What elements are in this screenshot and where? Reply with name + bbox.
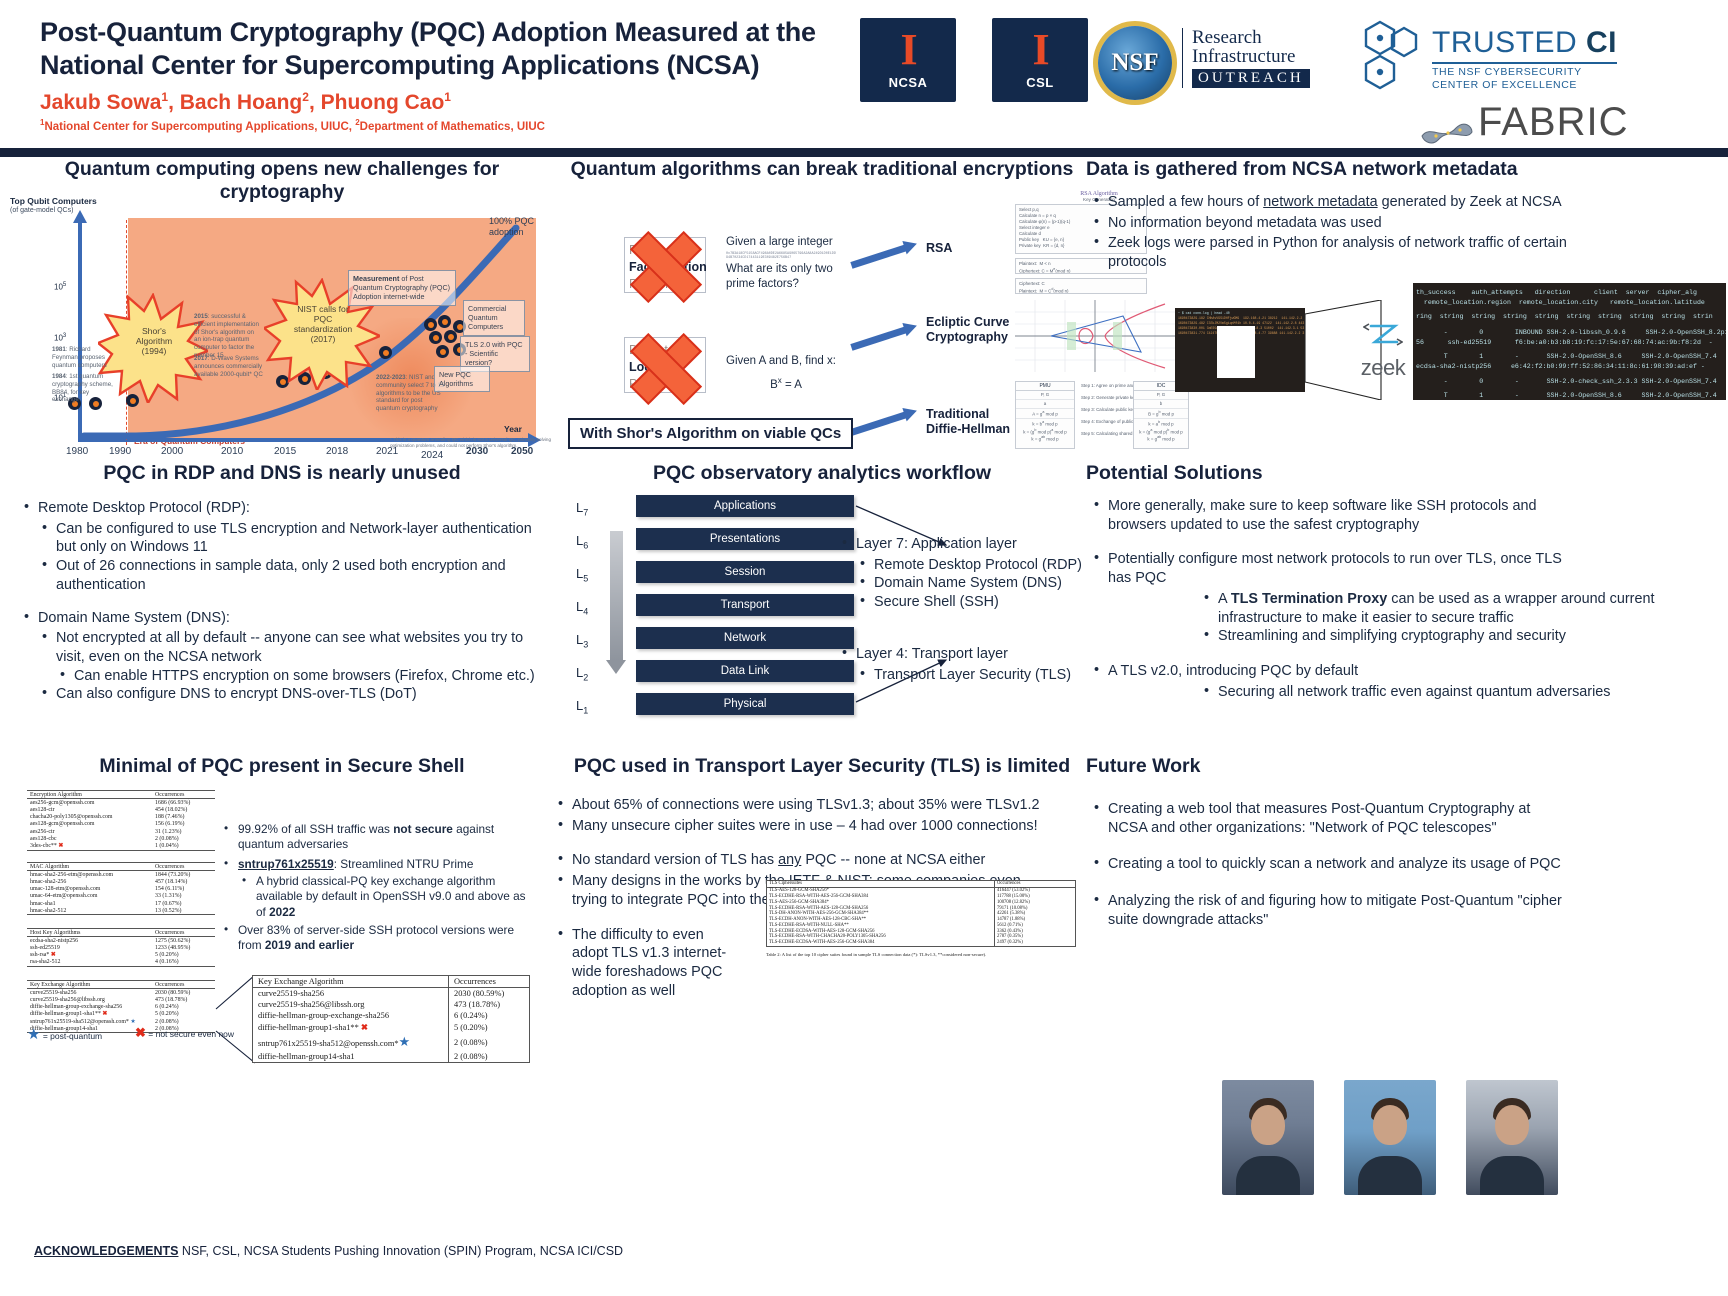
rdp-sublist: Can be configured to use TLS encryption … [40, 520, 542, 595]
tls-bullet-5: The difficulty to even adopt TLS v1.3 in… [556, 926, 741, 1001]
cell-occurrences: 154 (6.11%) [152, 886, 215, 893]
layer4-list: Layer 4: Transport layer Transport Layer… [840, 645, 1090, 684]
key-exchange-algorithm-table-enlarged: Key Exchange Algorithm Occurrences curve… [252, 975, 530, 1063]
dns-sub-1a: Can enable HTTPS encryption on some brow… [58, 667, 542, 686]
table-row: hmac-sha2-256-etm@openssh.com1844 (73.20… [27, 871, 215, 879]
panel6-bullets: More generally, make sure to keep softwa… [1092, 497, 1712, 701]
tls-termination-proxy-term: TLS Termination Proxy [1231, 591, 1387, 607]
target-dh-label: Traditional Diffie-Hellman [926, 407, 1026, 438]
team-photo-1 [1222, 1080, 1314, 1195]
cell-algorithm: 3des-cbc** ✖ [27, 842, 152, 850]
cell-occurrences: 5 (0.20%) [152, 952, 215, 959]
ssh-bullet-3: Over 83% of server-side SSH protocol ver… [222, 923, 537, 954]
not-secure-icon: ✖ [361, 1023, 368, 1032]
mac-algorithm-table: MAC Algorithm Occurrences hmac-sha2-256-… [27, 862, 215, 915]
diffie-hellman-mini-diagram: PMU P, G a A = ga mod p k = ba mod pk = … [1015, 381, 1190, 451]
layer7-item: Remote Desktop Protocol (RDP) [858, 556, 1090, 575]
fabric-wordmark: FABRIC [1478, 100, 1628, 144]
panel3-bullets: Sampled a few hours of network metadata … [1092, 193, 1582, 272]
cell-occurrences: 1233 (48.95%) [152, 944, 215, 951]
solution-bullet-2: Potentially configure most network proto… [1092, 550, 1562, 587]
team-photo-2 [1344, 1080, 1436, 1195]
nsf-label: NSF [1111, 49, 1158, 77]
callout-tls20-line-1: TLS 2.0 with PQC [465, 340, 525, 349]
cell-algorithm: sntrup761x25519-sha512@openssh.com*★ [253, 1033, 449, 1051]
note-2022-year: 2022-2023 [376, 374, 406, 381]
mac-col-occurrences: Occurrences [152, 863, 215, 871]
cell-occurrences: 2497 (0.32%) [995, 940, 1076, 946]
trusted-sub-1: THE NSF CYBERSECURITY [1432, 66, 1617, 79]
cell-algorithm: diffie-hellman-group1-sha1** ✖ [27, 1011, 152, 1018]
panel4-title: PQC in RDP and DNS is nearly unused [8, 462, 556, 485]
author-2-sup: 2 [302, 90, 309, 104]
cell-algorithm: curve25519-sha256 [253, 988, 449, 1000]
poster-header: Post-Quantum Cryptography (PQC) Adoption… [0, 0, 1728, 152]
table-row: diffie-hellman-group1-sha1** ✖5 (0.20%) [27, 1011, 215, 1018]
post-quantum-icon: ★ [130, 1019, 135, 1025]
table-row: aes128-cbc2 (0.08%) [27, 835, 215, 842]
panel3-title: Data is gathered from NCSA network metad… [1086, 158, 1726, 181]
osi-stack-diagram: L7 Applications L6 Presentations L5 Sess… [548, 495, 1088, 725]
avatar-face [1373, 1105, 1407, 1145]
layer4-item: Transport Layer Security (TLS) [858, 666, 1090, 685]
callout-measurement: Measurement of Post Quantum Cryptography… [348, 270, 456, 306]
solution-sublist-2: A TLS Termination Proxy can be used as a… [1202, 590, 1712, 646]
term-line: th_success auth_attempts direction clien… [1416, 288, 1723, 298]
note-2015-text: : successful & efficient implementation … [194, 313, 259, 359]
rsa-decrypt-box: Ciphertext: CPlaintext: M = Cd(mod n) [1015, 278, 1147, 294]
note-2017: 2017: D-Wave Systems announces commercia… [194, 355, 264, 378]
shor-line-2: Algorithm [116, 336, 192, 346]
kex-col-algorithm: Key Exchange Algorithm [27, 981, 152, 989]
solution-sub-3a: Securing all network traffic even agains… [1202, 683, 1642, 702]
log-highlight-region [1217, 326, 1255, 378]
arrow-to-dh-icon [850, 411, 907, 436]
panel7-title: Minimal of PQC present in Secure Shell [8, 755, 556, 778]
cell-algorithm: aes256-ctr [27, 828, 152, 835]
quantum-algorithms-diagram: Prime Factorization Problem Given a larg… [566, 185, 1078, 450]
pqc-adoption-line-1: 100% PQC [489, 216, 534, 227]
xtick-2000: 2000 [161, 446, 183, 457]
ri-outreach-label: OUTREACH [1192, 69, 1310, 88]
layer4-heading: Layer 4: Transport layer [840, 645, 1090, 664]
post-quantum-legend-icon: ★ [27, 1026, 40, 1043]
trusted-ci-hex-icon [1360, 18, 1430, 97]
cell-occurrences: 2 (0.08%) [152, 835, 215, 842]
cell-algorithm: curve25519-sha256@libssh.org [27, 996, 152, 1003]
cell-algorithm: ssh-rsa* ✖ [27, 952, 152, 959]
trusted-ci-subtitle: THE NSF CYBERSECURITY CENTER OF EXCELLEN… [1432, 62, 1617, 92]
panel-future-work: Future Work Creating a web tool that mea… [1086, 755, 1726, 932]
panel3-bullet-3: Zeek logs were parsed in Python for anal… [1092, 234, 1582, 271]
dns-sub-1: Not encrypted at all by default -- anyon… [40, 629, 542, 666]
panel9-bullets: Creating a web tool that measures Post-Q… [1092, 800, 1562, 930]
ssh-bullet-2: sntrup761x25519: Streamlined NTRU Prime [222, 857, 537, 872]
author-list: Jakub Sowa1, Bach Hoang2, Phuong Cao1 [40, 90, 860, 115]
cell-occurrences: 1844 (73.20%) [152, 871, 215, 879]
cell-occurrences: 457 (18.14%) [152, 878, 215, 885]
term-line: - 0 - SSH-2.0-check_ssh_2.3.3 SSH-2.0-Op… [1416, 377, 1723, 387]
dlog-question-line-1: Given A and B, find x: [726, 351, 846, 373]
cell-occurrences: 5 (0.20%) [449, 1021, 530, 1033]
cross-out-icon [618, 229, 710, 301]
target-dh-line-1: Traditional [926, 407, 1026, 422]
enc-col-algorithm: Encryption Algorithm [27, 791, 152, 799]
panel-quantum-algorithms: Quantum algorithms can break traditional… [566, 158, 1078, 181]
ssh-sub-2a: A hybrid classical-PQ key exchange algor… [240, 874, 537, 920]
prime-question: Given a large integer 0x7B3A18CF5158ACF4… [726, 235, 836, 292]
zeek-log-terminal: th_success auth_attempts direction clien… [1413, 283, 1726, 400]
cell-occurrences: 6 (0.24%) [449, 1010, 530, 1021]
ncsa-logo: I NCSA [860, 18, 956, 102]
xtick-2010: 2010 [221, 446, 243, 457]
shor-line-1: Shor's [116, 326, 192, 336]
table-row: curve25519-sha256@libssh.org473 (18.78%) [253, 999, 530, 1010]
not-secure-icon: ✖ [58, 843, 63, 849]
term-line: 56 ssh-ed25519 f6:be:a0:b3:b8:19:fc:17:5… [1416, 338, 1723, 348]
panel-data-gathering: Data is gathered from NCSA network metad… [1086, 158, 1726, 274]
kex-big-col-algorithm: Key Exchange Algorithm [253, 976, 449, 988]
trusted-word: TRUSTED [1432, 26, 1586, 59]
note-1984: 1984: 1st quantum cryptography scheme, B… [52, 373, 116, 404]
cell-occurrences: 1686 (66.93%) [152, 799, 215, 807]
solution-sub-2a: A TLS Termination Proxy can be used as a… [1202, 590, 1682, 627]
table-row: aes128-ctr454 (18.02%) [27, 806, 215, 813]
solution-sub-2b: Streamlining and simplifying cryptograph… [1202, 627, 1682, 646]
cell-occurrences: 2030 (80.59%) [449, 988, 530, 1000]
tls-bullet-3: No standard version of TLS has any PQC -… [556, 851, 1056, 870]
cell-algorithm: chacha20-poly1305@openssh.com [27, 814, 152, 821]
hostkey-col-occurrences: Occurrences [152, 929, 215, 937]
panel-tls: PQC used in Transport Layer Security (TL… [566, 755, 1078, 1002]
note-2017-year: 2017 [194, 355, 208, 362]
ssh-bullet-1: 99.92% of all SSH traffic was not secure… [222, 822, 537, 853]
tls-ciphersuites-table: TLS Ciphersuites Occurrences TLS-AES-128… [766, 880, 1076, 947]
table-row: aes256-gcm@openssh.com1686 (66.93%) [27, 799, 215, 807]
arrow-to-rsa-icon [850, 244, 907, 269]
qubit-dot [424, 318, 437, 331]
logo-strip: I NCSA I CSL NSF Research Infrastructure… [860, 8, 1720, 148]
large-integer-hex: 0x7B3A18CF5158ACF498A0DE2A6685A9065796A2… [726, 252, 836, 261]
tls-b3-pre: No standard version of TLS has [572, 852, 778, 868]
nist-line-2: PQC [282, 314, 364, 324]
ssh-b3-bold: 2019 and earlier [265, 938, 354, 952]
callout-tls20-line-2: - Scientific version? [465, 349, 525, 367]
ri-line-1: Research [1192, 28, 1310, 47]
quantum-timeline-chart: Top Qubit Computers (of gate-model QCs) … [8, 176, 556, 448]
illinois-i-icon: I [900, 30, 915, 70]
cell-algorithm: hmac-sha2-256-etm@openssh.com [27, 871, 152, 879]
arrow-to-ecc-icon [850, 326, 907, 351]
post-quantum-icon: ★ [399, 1034, 411, 1049]
team-photo-3 [1466, 1080, 1558, 1195]
tls-b3-underline: any [778, 852, 801, 868]
term-line: ring string string string string string … [1416, 312, 1723, 322]
table-row: 3des-cbc** ✖1 (0.04%) [27, 842, 215, 850]
tls-b3-post: PQC -- none at NCSA either [801, 852, 985, 868]
host-key-algorithm-table: Host Key Algorithms Occurrences ecdsa-sh… [27, 928, 215, 967]
callout-commercial-qc: Commercial Quantum Computers [463, 300, 525, 336]
cell-occurrences: 31 (1.23%) [152, 828, 215, 835]
note-1981-year: 1981 [52, 346, 66, 353]
fabric-mesh-icon [1420, 111, 1474, 137]
avatar-face [1495, 1105, 1529, 1145]
ssh-b1-bold: not secure [393, 822, 453, 836]
panel-rdp-dns: PQC in RDP and DNS is nearly unused Remo… [8, 462, 556, 704]
table-row: rsa-sha2-5124 (0.16%) [27, 959, 215, 967]
panel-ssh: Minimal of PQC present in Secure Shell [8, 755, 556, 778]
table-row: umac-128-etm@openssh.com154 (6.11%) [27, 886, 215, 893]
xtick-2018: 2018 [326, 446, 348, 457]
target-ecc-line-1: Ecliptic Curve [926, 315, 1026, 330]
ci-word: CI [1586, 26, 1617, 59]
layer7-heading: Layer 7: Application layer [840, 535, 1090, 554]
cell-algorithm: aes128-cbc [27, 835, 152, 842]
cell-algorithm: diffie-hellman-group-exchange-sha256 [27, 1004, 152, 1011]
note-1981: 1981: Richard Feynman proposes quantum c… [52, 346, 116, 369]
avatar-torso [1480, 1156, 1544, 1195]
shor-starburst-text: Shor's Algorithm (1994) [116, 326, 192, 356]
cell-occurrences: 156 (6.19%) [152, 821, 215, 828]
dns-sub-sublist: Can enable HTTPS encryption on some brow… [58, 667, 542, 686]
panel6-title: Potential Solutions [1086, 462, 1726, 485]
ri-line-2: Infrastructure [1192, 47, 1310, 66]
cell-algorithm: aes256-gcm@openssh.com [27, 799, 152, 807]
affil-2: Department of Mathematics, UIUC [360, 121, 545, 133]
tls-col-occurrences: Occurrences [995, 881, 1076, 888]
ssh-b1-pre: 99.92% of all SSH traffic was [238, 822, 393, 836]
target-rsa-label: RSA [926, 241, 952, 256]
table-row: diffie-hellman-group-exchange-sha2566 (0… [253, 1010, 530, 1021]
legend-post-quantum: ★ = post-quantum [27, 1025, 102, 1043]
cell-occurrences: 454 (18.02%) [152, 806, 215, 813]
trusted-ci-logo: TRUSTED CI THE NSF CYBERSECURITY CENTER … [1432, 26, 1617, 92]
hexagon-cluster-icon [1360, 18, 1430, 92]
tls-table-caption: Table 2: A list of the top 10 cipher sui… [766, 952, 1066, 958]
author-3: , Phuong Cao [309, 91, 444, 114]
cell-algorithm: rsa-sha2-512 [27, 959, 152, 967]
layer7-item: Secure Shell (SSH) [858, 593, 1090, 612]
prime-question-line-3: prime factors? [726, 277, 836, 292]
cell-algorithm: diffie-hellman-group14-sha1 [253, 1051, 449, 1063]
dns-heading: Domain Name System (DNS): [22, 609, 542, 628]
table-row: hmac-sha2-51213 (0.52%) [27, 907, 215, 915]
cell-algorithm: diffie-hellman-group-exchange-sha256 [253, 1010, 449, 1021]
cell-algorithm: hmac-sha2-512 [27, 907, 152, 915]
not-secure-icon: ✖ [51, 952, 56, 958]
dlog-question: Given A and B, find x: Bx = A [726, 351, 846, 397]
fabric-logo: FABRIC [1420, 100, 1628, 145]
tls-bullet-1: About 65% of connections were using TLSv… [556, 796, 1056, 815]
layer4-sublist: Transport Layer Security (TLS) [858, 666, 1090, 685]
network-metadata-link[interactable]: network metadata [1263, 194, 1377, 210]
panel4-bullets: Remote Desktop Protocol (RDP): Can be co… [22, 499, 542, 704]
future-bullet-2: Creating a tool to quickly scan a networ… [1092, 855, 1562, 874]
enc-col-occurrences: Occurrences [152, 791, 215, 799]
table-row: aes256-ctr31 (1.23%) [27, 828, 215, 835]
dh-pmu-box: PMU P, G a A = ga mod p k = ba mod pk = … [1015, 381, 1075, 449]
table-row: sntrup761x25519-sha512@openssh.com*★2 (0… [253, 1033, 530, 1051]
solution-bullet-3: A TLS v2.0, introducing PQC by default [1092, 662, 1712, 681]
cell-algorithm: hmac-sha2-256 [27, 878, 152, 885]
author-3-sup: 1 [444, 90, 451, 104]
rdp-sub-2: Out of 26 connections in sample data, on… [40, 557, 542, 594]
dns-sublist: Not encrypted at all by default -- anyon… [40, 629, 542, 704]
header-divider [0, 148, 1728, 157]
nsf-seal-icon: NSF [1098, 26, 1172, 100]
callout-new-pqc: New PQC Algorithms [434, 366, 490, 392]
panel-potential-solutions: Potential Solutions More generally, make… [1086, 462, 1726, 701]
affil-1: National Center for Supercomputing Appli… [44, 121, 355, 133]
panel3-bullet-1: Sampled a few hours of network metadata … [1092, 193, 1582, 212]
cell-algorithm: hmac-sha1 [27, 900, 152, 907]
cell-algorithm: diffie-hellman-group1-sha1** ✖ [253, 1021, 449, 1033]
affiliations: 1National Center for Supercomputing Appl… [40, 118, 860, 133]
table-row: hmac-sha2-256457 (18.14%) [27, 878, 215, 885]
shor-algorithm-banner: With Shor's Algorithm on viable QCs [568, 418, 853, 449]
author-1: Jakub Sowa [40, 91, 161, 114]
cell-occurrences: 188 (7.46%) [152, 814, 215, 821]
zeek-logo: zeek [1352, 320, 1414, 381]
encryption-algorithm-table: Encryption Algorithm Occurrences aes256-… [27, 790, 215, 851]
table-row: ecdsa-sha2-nistp2561275 (50.62%) [27, 937, 215, 945]
ssh-b2-post: : Streamlined NTRU Prime [334, 857, 474, 871]
page-title: Post-Quantum Cryptography (PQC) Adoption… [40, 16, 860, 82]
hostkey-col-algorithm: Host Key Algorithms [27, 929, 152, 937]
note-1984-year: 1984 [52, 373, 66, 380]
table-row: umac-64-etm@openssh.com33 (1.31%) [27, 893, 215, 900]
layer7-item: Domain Name System (DNS) [858, 574, 1090, 593]
panel1-footnote: * This is a quantum annealing QC which i… [390, 437, 560, 449]
ncsa-logo-label: NCSA [889, 75, 928, 90]
kex-big-col-occurrences: Occurrences [449, 976, 530, 988]
target-ecc-line-2: Cryptography [926, 330, 1026, 345]
raw-log-thumbnail: ~ $ cat conn.log | head -40 1690473829.1… [1175, 308, 1305, 392]
xtick-1980: 1980 [66, 446, 88, 457]
panel5-title: PQC observatory analytics workflow [566, 462, 1078, 485]
not-secure-legend-icon: ✖ [135, 1025, 146, 1040]
ssh-b2a-pre: A hybrid classical-PQ key exchange algor… [256, 874, 526, 919]
table-row: ssh-rsa* ✖5 (0.20%) [27, 952, 215, 959]
cell-occurrences: 17 (0.67%) [152, 900, 215, 907]
cell-algorithm: aes128-ctr [27, 806, 152, 813]
zeek-wordmark: zeek [1352, 355, 1414, 381]
solution-sublist-3: Securing all network traffic even agains… [1202, 683, 1712, 702]
layer7-callout: Layer 7: Application layer Remote Deskto… [840, 535, 1090, 612]
ack-label: ACKNOWLEDGEMENTS [34, 1244, 178, 1258]
dns-sub-2: Can also configure DNS to encrypt DNS-ov… [40, 685, 542, 704]
avatar-torso [1236, 1156, 1300, 1195]
table-row: hmac-sha117 (0.67%) [27, 900, 215, 907]
mac-col-algorithm: MAC Algorithm [27, 863, 152, 871]
ssh-b2a-bold: 2022 [269, 905, 295, 919]
qubit-dot [379, 346, 392, 359]
table-row: ssh-ed255191233 (48.95%) [27, 944, 215, 951]
cross-out-icon-2 [618, 331, 710, 403]
elliptic-curve-graphic [1015, 300, 1175, 372]
term-line: - 0 INBOUND SSH-2.0-libssh_0.9.6 SSH-2.0… [1416, 328, 1723, 338]
layer4-callout: Layer 4: Transport layer Transport Layer… [840, 645, 1090, 684]
sntrup-link[interactable]: sntrup761x25519 [238, 857, 334, 871]
table-row: diffie-hellman-group-exchange-sha2566 (0… [27, 1004, 215, 1011]
cell-occurrences: 1 (0.04%) [152, 842, 215, 850]
panel3-bullet-2: No information beyond metadata was used [1092, 214, 1582, 233]
acknowledgements: ACKNOWLEDGEMENTS NSF, CSL, NCSA Students… [34, 1244, 623, 1258]
term-line: T 1 - SSH-2.0-OpenSSH_8.6 SSH-2.0-OpenSS… [1416, 391, 1723, 400]
target-ecc-label: Ecliptic Curve Cryptography [926, 315, 1026, 346]
table-row: diffie-hellman-group14-sha12 (0.08%) [253, 1051, 530, 1063]
not-secure-icon: ✖ [102, 1011, 107, 1017]
cell-occurrences: 2 (0.08%) [449, 1033, 530, 1051]
cell-algorithm: ecdsa-sha2-nistp256 [27, 937, 152, 945]
shor-line-3: (1994) [116, 346, 192, 356]
solution-bullet-1: More generally, make sure to keep softwa… [1092, 497, 1562, 534]
table-row: diffie-hellman-group1-sha1** ✖5 (0.20%) [253, 1021, 530, 1033]
term-line: ecdsa-sha2-nistp256 e6:42:f2:b0:99:ff:52… [1416, 362, 1723, 372]
qubit-dot [436, 345, 449, 358]
nist-starburst-text: NIST calls for PQC standardization (2017… [282, 304, 364, 345]
rdp-sub-1: Can be configured to use TLS encryption … [40, 520, 542, 557]
qubit-dot [429, 331, 442, 344]
pqc-adoption-line-2: adoption [489, 227, 534, 238]
future-bullet-1: Creating a web tool that measures Post-Q… [1092, 800, 1562, 837]
cell-occurrences: 33 (1.31%) [152, 893, 215, 900]
poster-root: Post-Quantum Cryptography (PQC) Adoption… [0, 0, 1728, 1296]
title-block: Post-Quantum Cryptography (PQC) Adoption… [40, 16, 860, 133]
cell-algorithm: ssh-ed25519 [27, 944, 152, 951]
panel2-title: Quantum algorithms can break traditional… [566, 158, 1078, 181]
note-2015-year: 2015 [194, 313, 208, 320]
panel3-b1-post: generated by Zeek at NCSA [1378, 194, 1562, 210]
layer7-sublist: Remote Desktop Protocol (RDP) Domain Nam… [858, 556, 1090, 612]
table-row: chacha20-poly1305@openssh.com188 (7.46%) [27, 814, 215, 821]
panel8-title: PQC used in Transport Layer Security (TL… [566, 755, 1078, 778]
dlog-equation: Bx = A [726, 373, 846, 397]
layer7-list: Layer 7: Application layer Remote Deskto… [840, 535, 1090, 612]
cell-occurrences: 1275 (50.62%) [152, 937, 215, 945]
trusted-sub-2: CENTER OF EXCELLENCE [1432, 79, 1617, 92]
future-bullet-3: Analyzing the risk of and figuring how t… [1092, 892, 1562, 929]
table-row: curve25519-sha256@libssh.org473 (18.78%) [27, 996, 215, 1003]
xtick-1990: 1990 [109, 446, 131, 457]
panel3-b1-pre: Sampled a few hours of [1108, 194, 1263, 210]
trusted-ci-wordmark: TRUSTED CI [1432, 26, 1617, 60]
author-2: , Bach Hoang [168, 91, 302, 114]
tls-bullet-2: Many unsecure cipher suites were in use … [556, 817, 1056, 836]
title-line-1: Post-Quantum Cryptography (PQC) Adoption… [40, 17, 816, 47]
nist-line-3: standardization [282, 324, 364, 334]
csl-logo: I CSL [992, 18, 1088, 102]
target-dh-line-2: Diffie-Hellman [926, 422, 1026, 437]
cell-algorithm: aes128-gcm@openssh.com [27, 821, 152, 828]
ack-text: NSF, CSL, NCSA Students Pushing Innovati… [178, 1244, 623, 1258]
cell-algorithm: umac-64-etm@openssh.com [27, 893, 152, 900]
cell-occurrences: 13 (0.52%) [152, 907, 215, 915]
callout-measurement-bold: Measurement [353, 274, 399, 283]
tls-col-ciphersuite: TLS Ciphersuites [767, 881, 995, 888]
table-row: curve25519-sha2562030 (80.59%) [253, 988, 530, 1000]
cell-occurrences: 473 (18.78%) [449, 999, 530, 1010]
term-line: remote_location.region remote_location.c… [1416, 298, 1723, 308]
table-row: aes128-gcm@openssh.com156 (6.19%) [27, 821, 215, 828]
research-infrastructure-outreach-logo: Research Infrastructure OUTREACH [1182, 28, 1310, 88]
cell-occurrences: 4 (0.16%) [152, 959, 215, 967]
legend-pq-label: = post-quantum [43, 1031, 102, 1041]
zeek-arrows-icon [1363, 320, 1403, 350]
note-2015: 2015: successful & efficient implementat… [194, 313, 262, 360]
nist-line-4: (2017) [282, 334, 364, 344]
illinois-i-icon-2: I [1032, 30, 1047, 70]
